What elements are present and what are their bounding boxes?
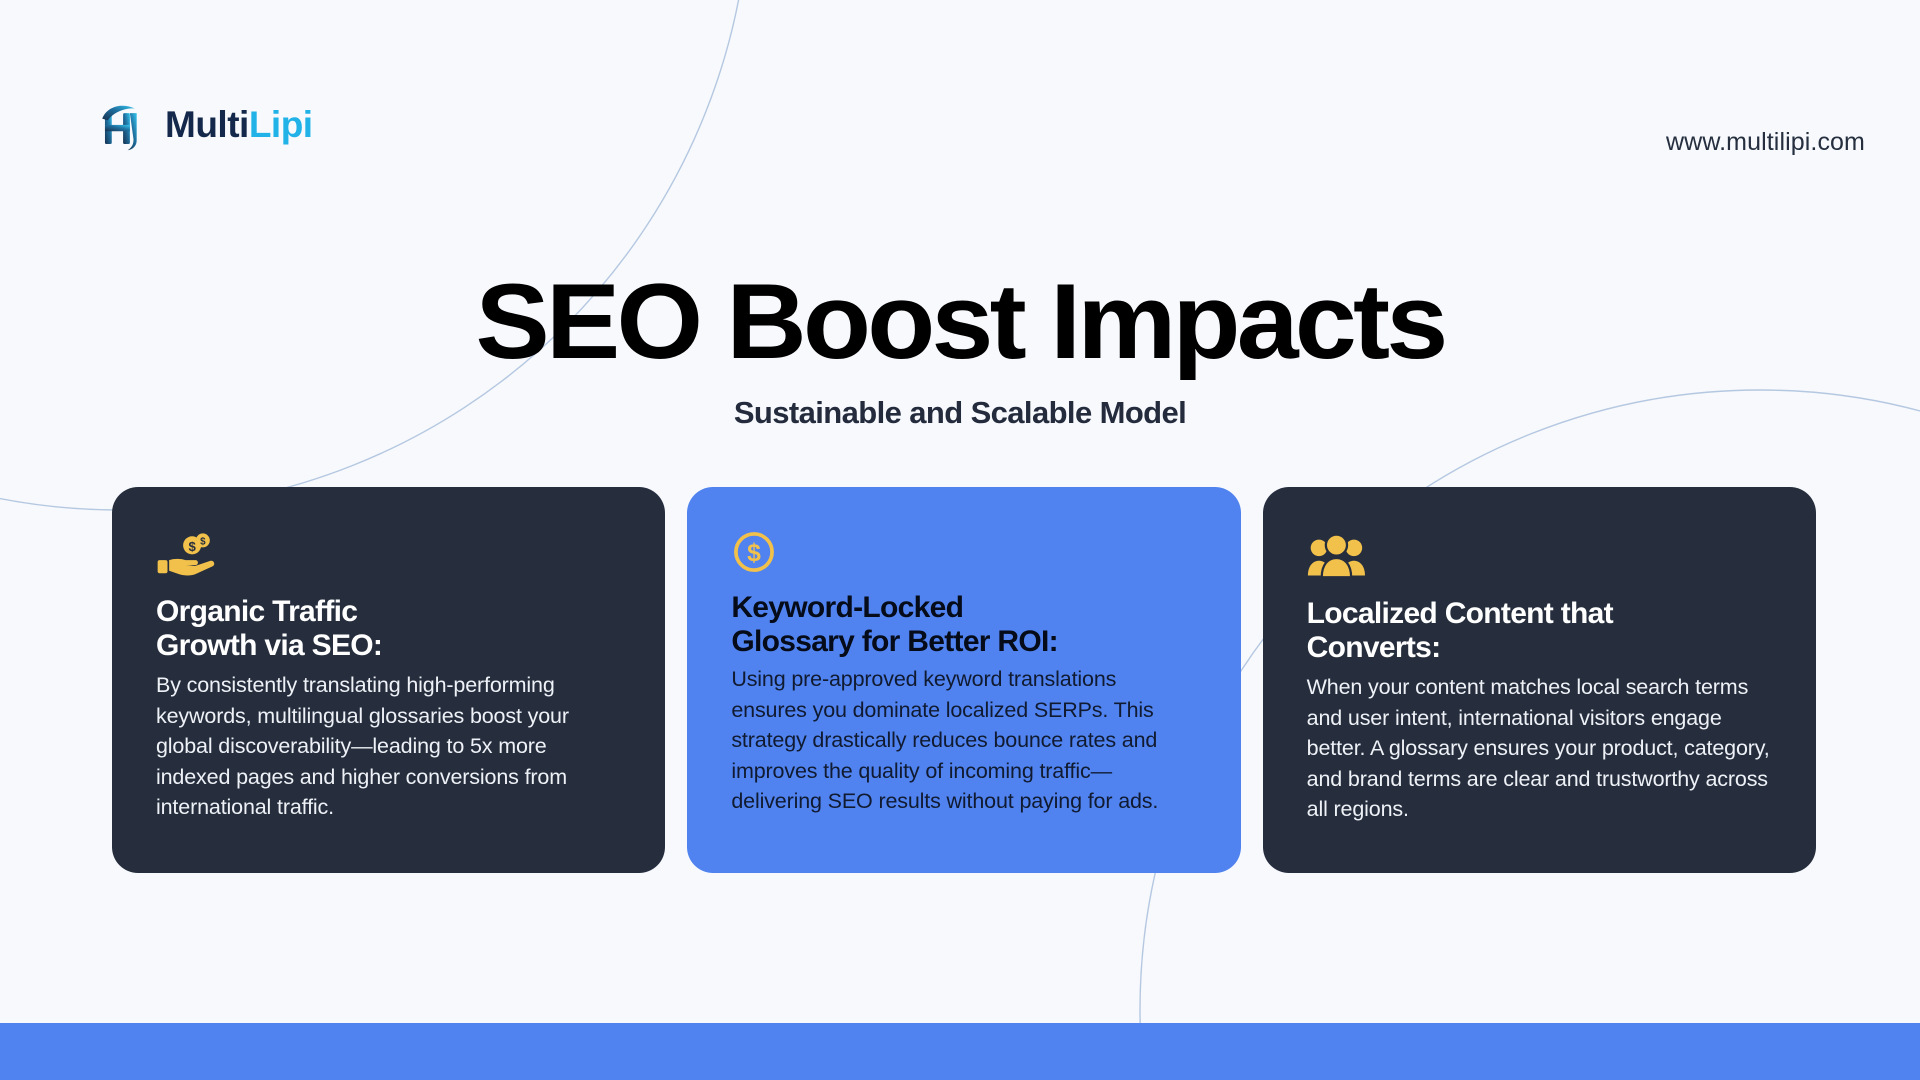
svg-text:$: $ (188, 539, 196, 554)
group-of-people-icon (1307, 535, 1772, 581)
card-title: Localized Content that Converts: (1307, 597, 1772, 664)
hl-monogram-icon (95, 95, 153, 153)
card-title: Organic Traffic Growth via SEO: (156, 595, 621, 662)
card-body: By consistently translating high-perform… (156, 670, 621, 823)
cards-row: $ $ Organic Traffic Growth via SEO: By c… (112, 487, 1816, 873)
brand-logo[interactable]: MultiLipi (95, 95, 313, 153)
wordmark-multi: Multi (165, 104, 249, 145)
svg-text:$: $ (200, 537, 206, 548)
page-subtitle: Sustainable and Scalable Model (0, 397, 1920, 428)
card-body: When your content matches local search t… (1307, 672, 1772, 825)
card-title: Keyword-Locked Glossary for Better ROI: (731, 591, 1196, 658)
card-organic-traffic[interactable]: $ $ Organic Traffic Growth via SEO: By c… (112, 487, 665, 873)
brand-wordmark: MultiLipi (165, 106, 313, 143)
dollar-coin-icon: $ (731, 529, 1196, 575)
card-body: Using pre-approved keyword translations … (731, 664, 1196, 817)
title-block: SEO Boost Impacts Sustainable and Scalab… (0, 268, 1920, 428)
site-url[interactable]: www.multilipi.com (1666, 128, 1865, 157)
svg-text:$: $ (747, 540, 761, 567)
footer-accent-bar (0, 1023, 1920, 1080)
page-title: SEO Boost Impacts (0, 268, 1920, 375)
slide-header: MultiLipi www.multilipi.com (0, 0, 1920, 200)
slide-canvas: MultiLipi www.multilipi.com SEO Boost Im… (0, 0, 1920, 1080)
card-localized-content[interactable]: Localized Content that Converts: When yo… (1263, 487, 1816, 873)
card-keyword-locked-glossary[interactable]: $ Keyword-Locked Glossary for Better ROI… (687, 487, 1240, 873)
wordmark-lipi: Lipi (249, 104, 313, 145)
hand-holding-coins-icon: $ $ (156, 533, 621, 579)
